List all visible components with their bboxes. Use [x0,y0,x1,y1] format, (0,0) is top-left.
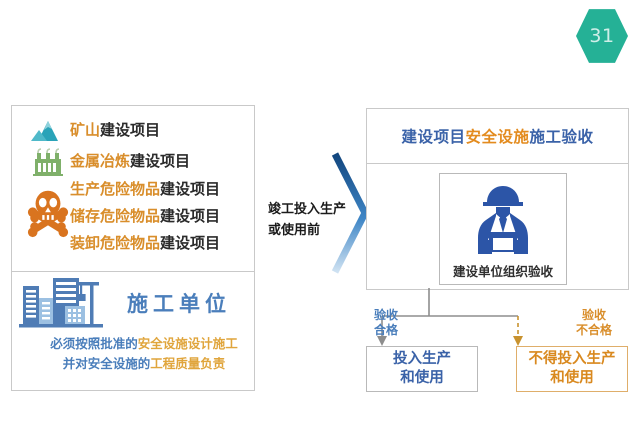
acceptance-panel-title: 建设项目安全设施施工验收 [367,109,628,164]
project-types-list: 矿山建设项目 [12,106,254,272]
project-label-metal-smelting: 金属冶炼建设项目 [70,154,190,169]
requirement-1-blue: 必须按照批准的 [50,336,138,351]
outcome-allowed-line-1: 投入生产 [393,350,451,369]
project-rest-hazard-handling: 建设项目 [160,236,220,251]
branch-label-pass: 验收 合格 [374,308,398,338]
project-highlight-hazard-handling: 装卸危险物品 [70,236,160,251]
construction-unit-section: 施工单位 必须按照批准的安全设施设计施工 并对安全设施的工程质量负责 [12,272,254,390]
mountain-icon [26,120,70,142]
acceptance-title-part-1: 建设项目 [401,125,465,147]
branch-label-pass-line-2: 合格 [374,323,398,338]
outcome-allowed-line-2: 和使用 [400,369,444,388]
requirement-1-orange: 安全设施设计施工 [138,336,238,351]
project-rest-hazard-production: 建设项目 [160,182,220,197]
project-highlight-hazard-storage: 储存危险物品 [70,209,160,224]
construction-unit-requirement-line-1: 必须按照批准的安全设施设计施工 [12,334,254,354]
outcome-box-prohibited: 不得投入生产 和使用 [516,346,628,392]
acceptance-title-part-3: 施工验收 [530,125,594,147]
project-highlight-metal-smelting: 金属冶炼 [70,152,130,170]
acceptance-organizer-caption: 建设单位组织验收 [453,261,553,280]
engineer-hardhat-icon [466,174,540,260]
page-number-badge: 31 [576,8,628,64]
construction-unit-header: 施工单位 [12,272,254,334]
construction-unit-title: 施工单位 [127,288,231,318]
construction-unit-requirement-line-2: 并对安全设施的工程质量负责 [12,354,254,374]
project-rest-hazard-storage: 建设项目 [160,209,220,224]
branch-label-fail-line-2: 不合格 [576,323,612,338]
project-rest-mining: 建设项目 [100,121,160,139]
list-item-mining: 矿山建设项目 [12,115,254,146]
outcome-prohibited-line-1: 不得投入生产 [529,350,616,369]
project-highlight-hazard-production: 生产危险物品 [70,182,160,197]
factory-icon [26,147,70,177]
outcome-box-allowed: 投入生产 和使用 [366,346,478,392]
requirement-2-blue: 并对安全设施的 [63,356,151,371]
hazardous-projects-group: 生产危险物品建设项目 储存危险物品建设项目 装卸危险物品建设项目 [12,176,254,257]
branch-label-fail-line-1: 验收 [576,308,612,323]
construction-buildings-icon [19,272,103,334]
project-rest-metal-smelting: 建设项目 [130,152,190,170]
project-label-hazard-storage: 储存危险物品建设项目 [70,203,220,230]
skull-crossbones-icon [26,188,70,246]
outcome-prohibited-line-2: 和使用 [550,369,594,388]
branch-label-pass-line-1: 验收 [374,308,398,323]
branch-label-fail: 验收 不合格 [576,308,612,338]
project-types-panel: 矿山建设项目 [11,105,255,391]
project-label-hazard-production: 生产危险物品建设项目 [70,176,220,203]
project-highlight-mining: 矿山 [70,121,100,139]
requirement-2-orange: 工程质量负责 [150,356,225,371]
project-label-hazard-handling: 装卸危险物品建设项目 [70,230,220,257]
acceptance-organizer-card: 建设单位组织验收 [439,173,567,285]
list-item-metal-smelting: 金属冶炼建设项目 [12,146,254,177]
project-label-mining: 矿山建设项目 [70,123,160,138]
hazardous-project-labels: 生产危险物品建设项目 储存危险物品建设项目 装卸危险物品建设项目 [70,176,220,257]
acceptance-panel: 建设项目安全设施施工验收 [366,108,629,290]
page-number-label: 31 [589,25,614,47]
acceptance-title-part-2: 安全设施 [465,125,529,147]
